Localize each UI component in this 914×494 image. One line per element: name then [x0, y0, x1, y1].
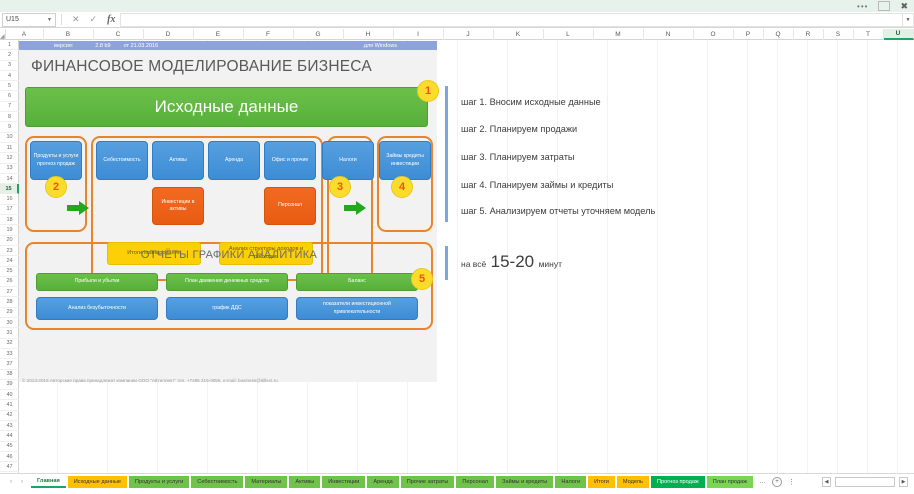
- row-header-17[interactable]: 17: [0, 205, 19, 215]
- report-profit-loss[interactable]: Прибыли и убытки: [36, 273, 158, 291]
- sheet-tab-6[interactable]: Инвестиции: [322, 476, 365, 488]
- column-headers: ◢ ABCDEFGHIJKLMNOPQRSTUVWXYZAAABAC: [0, 29, 914, 40]
- row-header-39[interactable]: 39: [0, 380, 19, 390]
- reports-section: ОТЧЁТЫ ГРАФИКИ АНАЛИТИКА Прибыли и убытк…: [25, 242, 433, 330]
- column-header-n[interactable]: N: [644, 29, 694, 40]
- next-sheet-icon[interactable]: ›: [21, 479, 23, 485]
- row-header-3[interactable]: 3: [0, 61, 19, 71]
- arrow-right-icon-1: [67, 201, 89, 215]
- confirm-icon[interactable]: ✓: [90, 14, 98, 25]
- row-header-8[interactable]: 8: [0, 112, 19, 122]
- version-platform: для Windows: [364, 43, 397, 49]
- restore-window-icon[interactable]: [878, 1, 890, 11]
- excel-window: ••• ✖ U15 ▼ ✕ ✓ fx ▼ ◢ ABCDEFGHIJKLMNOPQ…: [0, 0, 914, 494]
- column-header-m[interactable]: M: [594, 29, 644, 40]
- report-breakeven[interactable]: Анализ безубыточности: [36, 297, 158, 320]
- step-text-4: шаг 4. Планируем займы и кредиты: [461, 180, 613, 190]
- sheet-tab-bar: ‹ › ГлавнаяИсходные данныеПродукты и усл…: [0, 473, 914, 489]
- row-header-1[interactable]: 1: [0, 40, 19, 50]
- ribbon-strip: ••• ✖: [0, 0, 914, 12]
- row-header-46[interactable]: 46: [0, 452, 19, 462]
- status-bar: [0, 489, 914, 494]
- chevron-down-icon[interactable]: ▼: [47, 17, 52, 23]
- sheet-tab-3[interactable]: Себестоимость: [191, 476, 243, 488]
- row-header-9[interactable]: 9: [0, 122, 19, 132]
- sheet-menu-icon[interactable]: ⋮: [788, 478, 795, 486]
- row-header-13[interactable]: 13: [0, 164, 19, 174]
- step-text-1: шаг 1. Вносим исходные данные: [461, 97, 601, 107]
- row-header-5[interactable]: 5: [0, 81, 19, 91]
- report-balance[interactable]: Баланс: [296, 273, 418, 291]
- column-header-s[interactable]: S: [824, 29, 854, 40]
- more-sheets-icon[interactable]: …: [759, 478, 766, 485]
- window-controls: ••• ✖: [857, 1, 908, 11]
- column-header-r[interactable]: R: [794, 29, 824, 40]
- sheet-tab-13[interactable]: Модель: [617, 476, 649, 488]
- total-time: на всё 15-20 минут: [461, 252, 562, 272]
- row-header-11[interactable]: 11: [0, 143, 19, 153]
- sheet-tab-11[interactable]: Налоги: [555, 476, 586, 488]
- sheet-tab-1[interactable]: Исходные данные: [68, 476, 127, 488]
- row-header-12[interactable]: 12: [0, 153, 19, 163]
- column-header-g[interactable]: G: [294, 29, 344, 40]
- step-text-5: шаг 5. Анализируем отчеты уточняем модел…: [461, 206, 655, 216]
- scroll-right-icon[interactable]: ▶: [899, 477, 908, 487]
- column-header-j[interactable]: J: [444, 29, 494, 40]
- sheet-nav-arrows[interactable]: ‹ ›: [4, 479, 23, 485]
- gridline: [707, 40, 708, 473]
- column-header-h[interactable]: H: [344, 29, 394, 40]
- version-label: версия:: [54, 43, 73, 49]
- step-text-3: шаг 3. Планируем затраты: [461, 152, 575, 162]
- ribbon-options-icon[interactable]: •••: [857, 2, 868, 11]
- sheet-tab-15[interactable]: План продаж: [707, 476, 753, 488]
- sheet-tab-10[interactable]: Займы и кредиты: [496, 476, 553, 488]
- gridline: [657, 40, 658, 473]
- column-header-c[interactable]: C: [94, 29, 144, 40]
- sheet-tab-0[interactable]: Главная: [31, 476, 66, 488]
- gridline: [867, 40, 868, 473]
- row-header-24[interactable]: 24: [0, 256, 19, 266]
- step-marker-1: 1: [417, 80, 439, 102]
- prev-sheet-icon[interactable]: ‹: [10, 479, 12, 485]
- total-time-prefix: на всё: [461, 259, 486, 269]
- input-data-button[interactable]: Исходные данные: [25, 87, 428, 127]
- version-banner: версия: 2.8 b9 от 21.03.2016 для Windows: [19, 41, 437, 50]
- row-header-47[interactable]: 47: [0, 462, 19, 472]
- row-header-31[interactable]: 31: [0, 328, 19, 338]
- blue-box-taxes[interactable]: Налоги: [322, 141, 374, 180]
- row-header-14[interactable]: 14: [0, 174, 19, 184]
- sheet-tab-12[interactable]: Итоги: [588, 476, 615, 488]
- row-header-2[interactable]: 2: [0, 50, 19, 60]
- row-header-19[interactable]: 19: [0, 225, 19, 235]
- blue-box-loans[interactable]: Займы кредиты инвестиции: [379, 141, 431, 180]
- close-window-icon[interactable]: ✖: [900, 1, 908, 11]
- total-accent-bar: [445, 246, 448, 280]
- column-header-i[interactable]: I: [394, 29, 444, 40]
- sheet-tab-7[interactable]: Аренда: [367, 476, 398, 488]
- row-header-29[interactable]: 29: [0, 308, 19, 318]
- column-header-u[interactable]: U: [884, 29, 914, 40]
- row-header-40[interactable]: 40: [0, 390, 19, 400]
- row-header-26[interactable]: 26: [0, 277, 19, 287]
- row-header-42[interactable]: 42: [0, 411, 19, 421]
- row-header-10[interactable]: 10: [0, 133, 19, 143]
- row-header-18[interactable]: 18: [0, 215, 19, 225]
- horizontal-scrollbar[interactable]: [835, 477, 895, 487]
- gridline: [897, 40, 898, 473]
- gridline: [777, 40, 778, 473]
- step-marker-4: 4: [391, 176, 413, 198]
- row-header-45[interactable]: 45: [0, 442, 19, 452]
- column-header-p[interactable]: P: [734, 29, 764, 40]
- dashboard-panel: ФИНАНСОВОЕ МОДЕЛИРОВАНИЕ БИЗНЕСА Исходны…: [19, 50, 437, 382]
- report-cash-flow[interactable]: План движения денежных средств: [166, 273, 288, 291]
- report-cashflow-chart[interactable]: график ДДС: [166, 297, 288, 320]
- name-box[interactable]: U15 ▼: [2, 13, 56, 27]
- version-date: от 21.03.2016: [124, 43, 159, 49]
- row-header-32[interactable]: 32: [0, 339, 19, 349]
- blue-box-cost[interactable]: Себестоимость: [96, 141, 148, 180]
- sheet-tab-8[interactable]: Прочие затраты: [401, 476, 455, 488]
- row-header-25[interactable]: 25: [0, 267, 19, 277]
- step-marker-5: 5: [411, 268, 433, 290]
- column-header-l[interactable]: L: [544, 29, 594, 40]
- sheet-tab-5[interactable]: Активы: [289, 476, 320, 488]
- reports-title: ОТЧЁТЫ ГРАФИКИ АНАЛИТИКА: [25, 249, 433, 261]
- row-header-43[interactable]: 43: [0, 421, 19, 431]
- version-number: 2.8 b9: [95, 43, 110, 49]
- row-header-20[interactable]: 20: [0, 236, 19, 246]
- row-header-4[interactable]: 4: [0, 71, 19, 81]
- divider: [61, 14, 62, 25]
- row-header-23[interactable]: 23: [0, 246, 19, 256]
- row-header-37[interactable]: 37: [0, 359, 19, 369]
- gridline: [747, 40, 748, 473]
- sheet-tab-14[interactable]: Прогноз продаж: [651, 476, 705, 488]
- sheet-tab-9[interactable]: Персонал: [456, 476, 494, 488]
- total-time-value: 15-20: [491, 252, 534, 271]
- row-header-28[interactable]: 28: [0, 297, 19, 307]
- row-header-27[interactable]: 27: [0, 287, 19, 297]
- gridline: [837, 40, 838, 473]
- horizontal-scroll-controls[interactable]: ◀ ▶: [822, 477, 914, 487]
- gridline: [807, 40, 808, 473]
- sheet-tab-2[interactable]: Продукты и услуги: [129, 476, 189, 488]
- blue-box-products[interactable]: Продукты и услуги прогноз продаж: [30, 141, 82, 180]
- gridline: [457, 40, 458, 473]
- copyright-footer: © 2013-2016 Авторские права принадлежат …: [22, 378, 278, 383]
- step-text-2: шаг 2. Планируем продажи: [461, 124, 577, 134]
- column-header-e[interactable]: E: [194, 29, 244, 40]
- formula-expand-icon[interactable]: ▼: [902, 13, 914, 27]
- insert-function-icon[interactable]: fx: [107, 14, 115, 25]
- scroll-left-icon[interactable]: ◀: [822, 477, 831, 487]
- column-header-a[interactable]: A: [6, 29, 44, 40]
- arrow-right-icon-2: [344, 201, 366, 215]
- row-header-38[interactable]: 38: [0, 370, 19, 380]
- orange-box-personnel[interactable]: Персонал: [264, 187, 316, 225]
- row-header-16[interactable]: 16: [0, 194, 19, 204]
- row-header-44[interactable]: 44: [0, 431, 19, 441]
- step-marker-3: 3: [329, 176, 351, 198]
- column-header-o[interactable]: O: [694, 29, 734, 40]
- column-header-t[interactable]: T: [854, 29, 884, 40]
- add-sheet-icon[interactable]: +: [772, 477, 782, 487]
- row-header-6[interactable]: 6: [0, 91, 19, 101]
- blue-box-office[interactable]: Офис и прочие: [264, 141, 316, 180]
- column-header-q[interactable]: Q: [764, 29, 794, 40]
- column-header-f[interactable]: F: [244, 29, 294, 40]
- report-investment-kpi[interactable]: показатели инвестиционной привлекательно…: [296, 297, 418, 320]
- row-headers: 1234567891011121314151617181920232425262…: [0, 40, 19, 473]
- step-marker-2: 2: [45, 176, 67, 198]
- row-header-7[interactable]: 7: [0, 102, 19, 112]
- row-header-30[interactable]: 30: [0, 318, 19, 328]
- row-header-41[interactable]: 41: [0, 400, 19, 410]
- steps-accent-bar: [445, 86, 448, 222]
- formula-input[interactable]: [120, 13, 902, 27]
- column-header-b[interactable]: B: [44, 29, 94, 40]
- cancel-icon[interactable]: ✕: [72, 14, 80, 25]
- orange-box-investments[interactable]: Инвестиции в активы: [152, 187, 204, 225]
- row-header-33[interactable]: 33: [0, 349, 19, 359]
- total-time-suffix: минут: [539, 259, 562, 269]
- name-box-value: U15: [6, 16, 19, 23]
- blue-box-rent[interactable]: Аренда: [208, 141, 260, 180]
- column-header-k[interactable]: K: [494, 29, 544, 40]
- column-header-d[interactable]: D: [144, 29, 194, 40]
- page-title: ФИНАНСОВОЕ МОДЕЛИРОВАНИЕ БИЗНЕСА: [31, 58, 372, 76]
- gridline: [607, 40, 608, 473]
- blue-box-assets[interactable]: Активы: [152, 141, 204, 180]
- formula-bar: U15 ▼ ✕ ✓ fx ▼: [0, 12, 914, 28]
- row-header-15[interactable]: 15: [0, 184, 19, 194]
- sheet-tab-4[interactable]: Материалы: [245, 476, 287, 488]
